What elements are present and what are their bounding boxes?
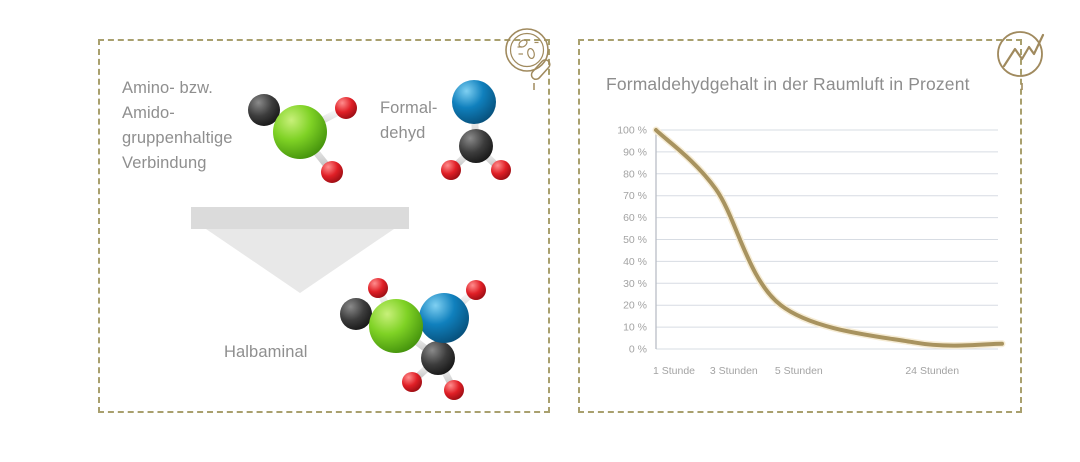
chart-y-tick-labels: 100 %90 %80 %70 %60 %50 %40 %30 %20 %10 … [617,125,647,356]
chart-y-tick-label: 20 % [623,300,647,312]
chart-y-tick-label: 80 % [623,168,647,180]
chart-y-tick-label: 70 % [623,190,647,202]
chart-x-tick-label: 24 Stunden [905,365,959,377]
chart-x-tick-label: 1 Stunde [653,365,695,377]
chart-y-tick-label: 0 % [629,344,647,356]
chart-series-line [656,130,1002,346]
line-chart-circle-icon[interactable] [985,21,1059,95]
chart-x-tick-label: 5 Stunden [775,365,823,377]
amino-compound-molecule [238,82,368,186]
chart-y-tick-label: 100 % [617,125,647,137]
hemiaminal-molecule [326,268,508,402]
chart-y-tick-label: 50 % [623,234,647,246]
chart-title: Formaldehydgehalt in der Raumluft in Pro… [606,74,970,95]
chart-grid [656,130,998,349]
line-chart: 100 %90 %80 %70 %60 %50 %40 %30 %20 %10 … [578,100,1022,380]
chart-y-tick-label: 60 % [623,212,647,224]
chart-series-highlight [656,130,1002,346]
chart-y-tick-label: 90 % [623,146,647,158]
chart-y-tick-label: 10 % [623,322,647,334]
chart-y-tick-label: 30 % [623,278,647,290]
chart-x-tick-label: 3 Stunden [710,365,758,377]
chart-x-tick-labels: 1 Stunde3 Stunden5 Stunden24 Stunden [653,365,959,377]
microscopy-magnifier-icon[interactable] [497,21,571,95]
chart-y-tick-label: 40 % [623,256,647,268]
